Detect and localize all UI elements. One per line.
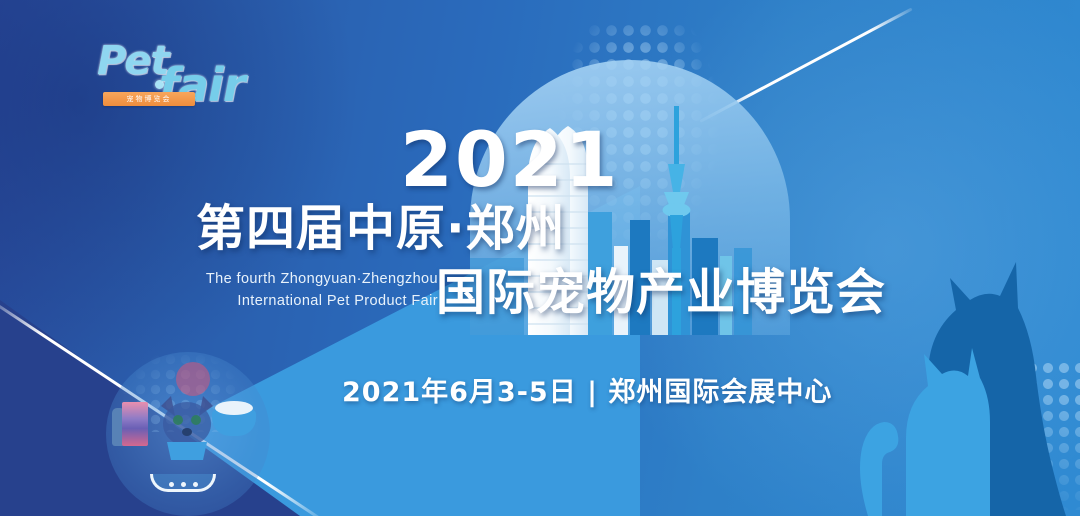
- food-bowl-icon: [212, 410, 256, 436]
- logo-ribbon: 宠物博览会: [103, 92, 195, 106]
- cat-silhouette: [906, 348, 990, 516]
- pet-food-box-icon: [122, 402, 148, 446]
- title-english: The fourth Zhongyuan·Zhengzhou Internati…: [198, 268, 438, 313]
- title-english-1: The fourth Zhongyuan·Zhengzhou: [198, 268, 438, 290]
- pet-silhouettes: [810, 226, 1080, 516]
- pet-collar-icon: [150, 474, 216, 492]
- pet-products-vignette: [106, 352, 270, 516]
- logo-ribbon-text: 宠物博览会: [127, 94, 172, 104]
- event-date-venue: 2021年6月3-5日 | 郑州国际会展中心: [342, 370, 832, 409]
- title-chinese-1: 第四届中原·郑州: [196, 204, 566, 253]
- year-title: 2021: [400, 122, 620, 198]
- pet-face-icon: [151, 390, 223, 462]
- logo-word-pet: Pet: [97, 38, 169, 84]
- title-english-2: International Pet Product Fair: [198, 290, 438, 312]
- pet-fair-banner: Pet fair 宠物博览会 2021 第四届中原·郑州 国际宠物产业博览会 T…: [0, 0, 1080, 516]
- pet-fair-logo[interactable]: Pet fair 宠物博览会: [95, 36, 270, 114]
- cat-tail: [860, 422, 898, 516]
